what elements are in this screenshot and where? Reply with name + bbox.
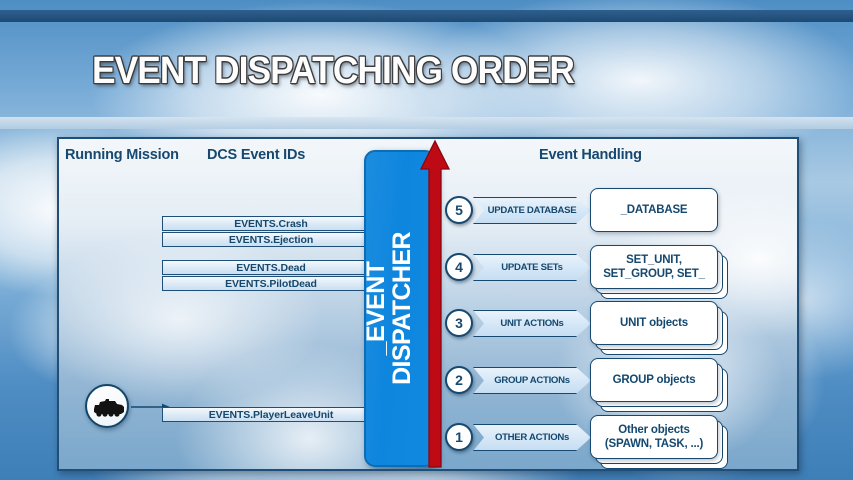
event-chevron[interactable]: EVENTS.Crash bbox=[162, 216, 380, 231]
step-action-chevron[interactable]: UPDATE SETs bbox=[473, 254, 591, 281]
order-up-arrow-icon bbox=[420, 139, 450, 469]
step-number-badge: 5 bbox=[445, 196, 473, 224]
event-chevron[interactable]: EVENTS.PilotDead bbox=[162, 276, 380, 291]
column-header-running-mission: Running Mission bbox=[65, 147, 179, 163]
column-header-event-handling: Event Handling bbox=[539, 147, 642, 163]
event-dispatcher-label: _EVENT DISPATCHER bbox=[364, 232, 415, 385]
page-title: EVENT DISPATCHING ORDER bbox=[92, 50, 574, 93]
step-result-box[interactable]: Other objects(SPAWN, TASK, ...) bbox=[590, 415, 718, 459]
step-result-label: UNIT objects bbox=[590, 301, 718, 345]
step-action-chevron[interactable]: UNIT ACTIONs bbox=[473, 310, 591, 337]
armored-vehicle-icon bbox=[85, 384, 129, 428]
step-result-box[interactable]: SET_UNIT,SET_GROUP, SET_ bbox=[590, 245, 718, 289]
event-chevron[interactable]: EVENTS.Dead bbox=[162, 260, 380, 275]
dispatcher-line-1: _EVENT bbox=[362, 262, 390, 356]
armored-vehicle-glyph bbox=[92, 398, 126, 418]
event-chevron[interactable]: EVENTS.Ejection bbox=[162, 232, 380, 247]
step-number-badge: 3 bbox=[445, 309, 473, 337]
column-header-dcs-event-ids: DCS Event IDs bbox=[207, 147, 305, 163]
top-accent-band bbox=[0, 10, 853, 22]
step-number-badge: 1 bbox=[445, 423, 473, 451]
event-chevron[interactable]: EVENTS.PlayerLeaveUnit bbox=[162, 407, 380, 422]
step-number-badge: 2 bbox=[445, 366, 473, 394]
step-result-box[interactable]: _DATABASE bbox=[590, 188, 718, 232]
diagram-panel: Running Mission DCS Event IDs Event Hand… bbox=[57, 137, 799, 471]
dispatcher-line-2: DISPATCHER bbox=[387, 232, 415, 385]
step-result-label: Other objects(SPAWN, TASK, ...) bbox=[590, 415, 718, 459]
step-action-chevron[interactable]: GROUP ACTIONs bbox=[473, 367, 591, 394]
step-number-badge: 4 bbox=[445, 253, 473, 281]
step-result-label: GROUP objects bbox=[590, 358, 718, 402]
step-result-box[interactable]: UNIT objects bbox=[590, 301, 718, 345]
step-result-label: _DATABASE bbox=[590, 188, 718, 232]
title-separator-band bbox=[0, 117, 853, 129]
step-action-chevron[interactable]: UPDATE DATABASE bbox=[473, 197, 591, 224]
step-result-label: SET_UNIT,SET_GROUP, SET_ bbox=[590, 245, 718, 289]
step-action-chevron[interactable]: OTHER ACTIONs bbox=[473, 424, 591, 451]
step-result-box[interactable]: GROUP objects bbox=[590, 358, 718, 402]
slide-background: EVENT DISPATCHING ORDER Running Mission … bbox=[0, 0, 853, 480]
